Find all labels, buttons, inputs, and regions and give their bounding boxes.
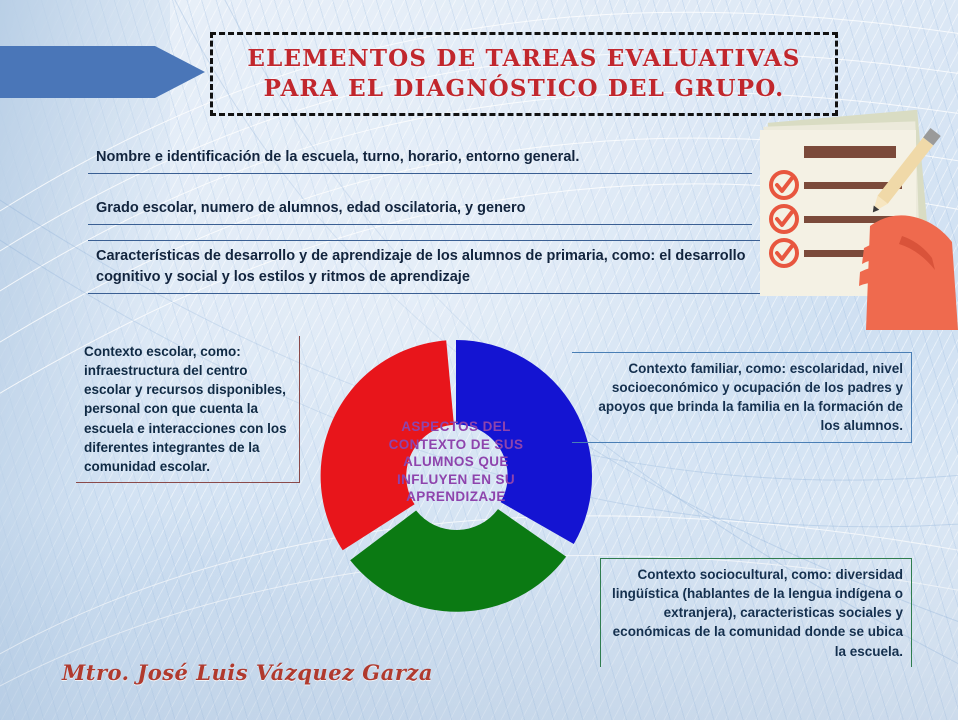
author-signature: Mtro. José Luis Vázquez Garza [62,660,433,685]
donut-chart: ASPECTOS DEL CONTEXTO DE SUS ALUMNOS QUE… [310,330,602,622]
title-box: ELEMENTOS DE TAREAS EVALUATIVAS PARA EL … [210,32,838,116]
bullet-bar-2: Grado escolar, numero de alumnos, edad o… [88,193,752,225]
donut-center-label: ASPECTOS DEL CONTEXTO DE SUS ALUMNOS QUE… [380,418,532,506]
callout-contexto-sociocultural: Contexto sociocultural, como: diversidad… [600,558,912,667]
callout-contexto-familiar: Contexto familiar, como: escolaridad, ni… [572,352,912,443]
bullet-bar-1: Nombre e identificación de la escuela, t… [88,142,752,174]
page-title: ELEMENTOS DE TAREAS EVALUATIVAS PARA EL … [213,44,835,105]
bullet-bar-3: Características de desarrollo y de apren… [88,240,768,294]
clipboard-checklist-with-hand-icon [752,108,958,330]
clipboard-checklist-illustration [752,108,958,330]
callout-contexto-escolar: Contexto escolar, como: infraestructura … [76,336,300,483]
